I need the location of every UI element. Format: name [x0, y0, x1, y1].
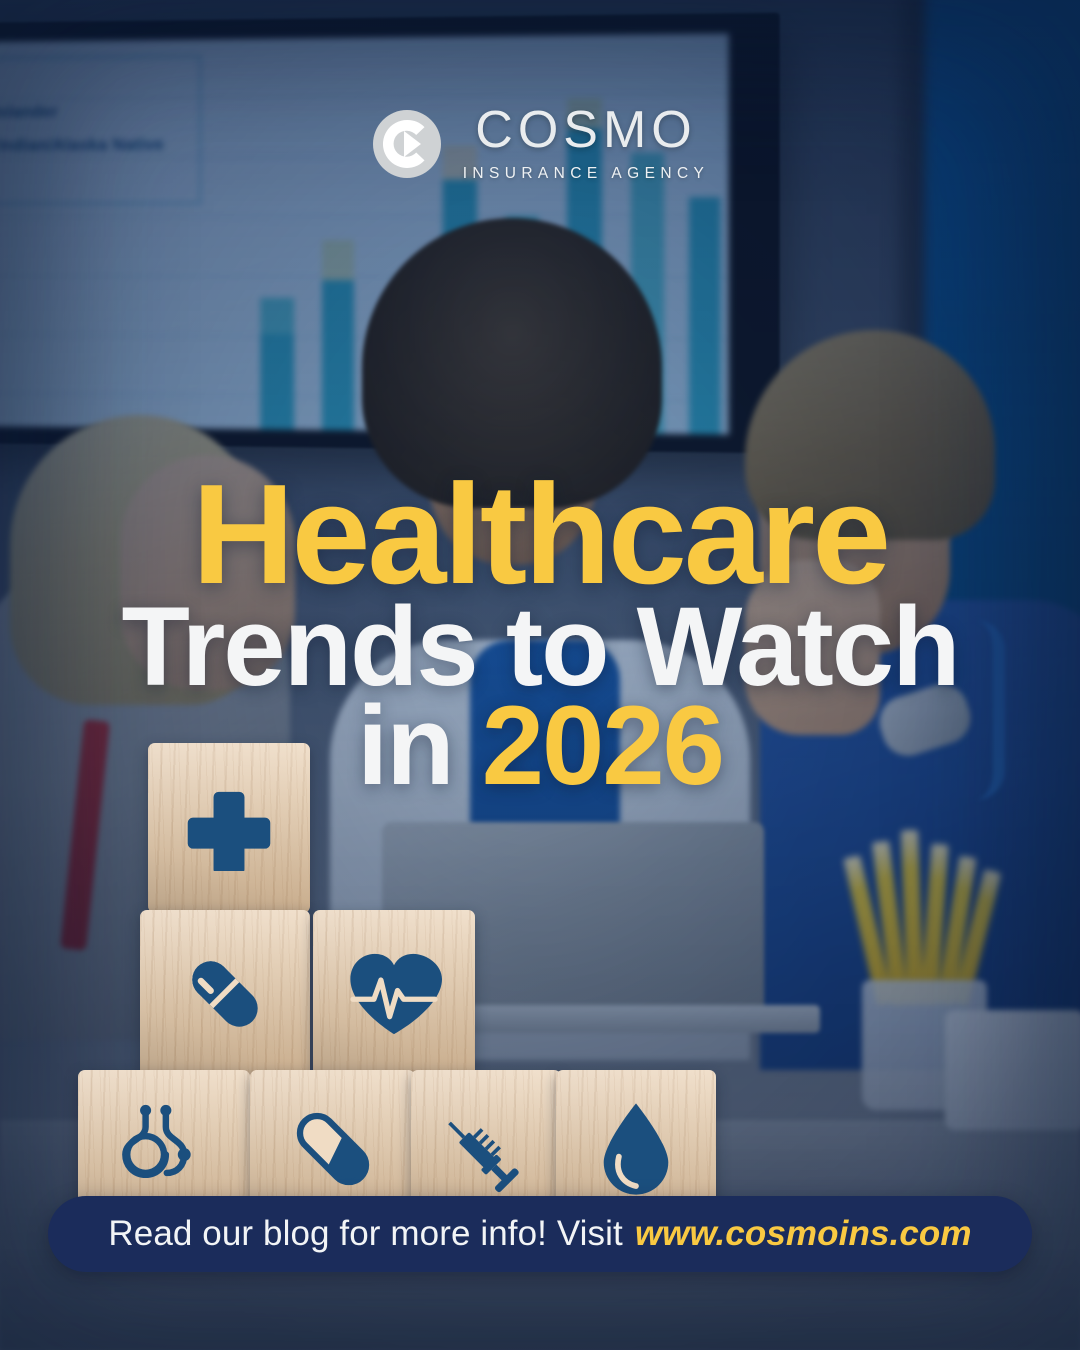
headline: Healthcare Trends to Watch in 2026: [0, 470, 1080, 797]
cosmo-circle-c-icon: [371, 108, 443, 180]
headline-line-3-prefix: in: [357, 683, 482, 808]
headline-line-1: Healthcare: [0, 470, 1080, 601]
cta-url[interactable]: www.cosmoins.com: [635, 1214, 972, 1254]
cta-banner[interactable]: Read our blog for more info! Visit www.c…: [48, 1196, 1032, 1272]
heart-pulse-icon: [346, 950, 442, 1038]
block-heart-pulse: [313, 910, 475, 1078]
headline-year: 2026: [482, 683, 723, 808]
water-drop-icon: [598, 1101, 674, 1197]
block-pill: [140, 910, 310, 1078]
brand-logo[interactable]: COSMO INSURANCE AGENCY: [0, 104, 1080, 183]
capsule-icon: [288, 1104, 378, 1194]
syringe-icon: [440, 1103, 532, 1195]
cta-text: Read our blog for more info! Visit: [108, 1214, 622, 1254]
stethoscope-icon: [118, 1103, 210, 1195]
headline-line-3: in 2026: [0, 694, 1080, 797]
brand-tagline: INSURANCE AGENCY: [463, 165, 710, 183]
wooden-block-stack: [0, 830, 1080, 1350]
pill-capsule-icon: [179, 948, 271, 1040]
medical-cross-icon: [186, 785, 272, 871]
brand-name: COSMO: [475, 104, 696, 156]
poster: Pacific Islander American Indian/Alaska …: [0, 0, 1080, 1350]
